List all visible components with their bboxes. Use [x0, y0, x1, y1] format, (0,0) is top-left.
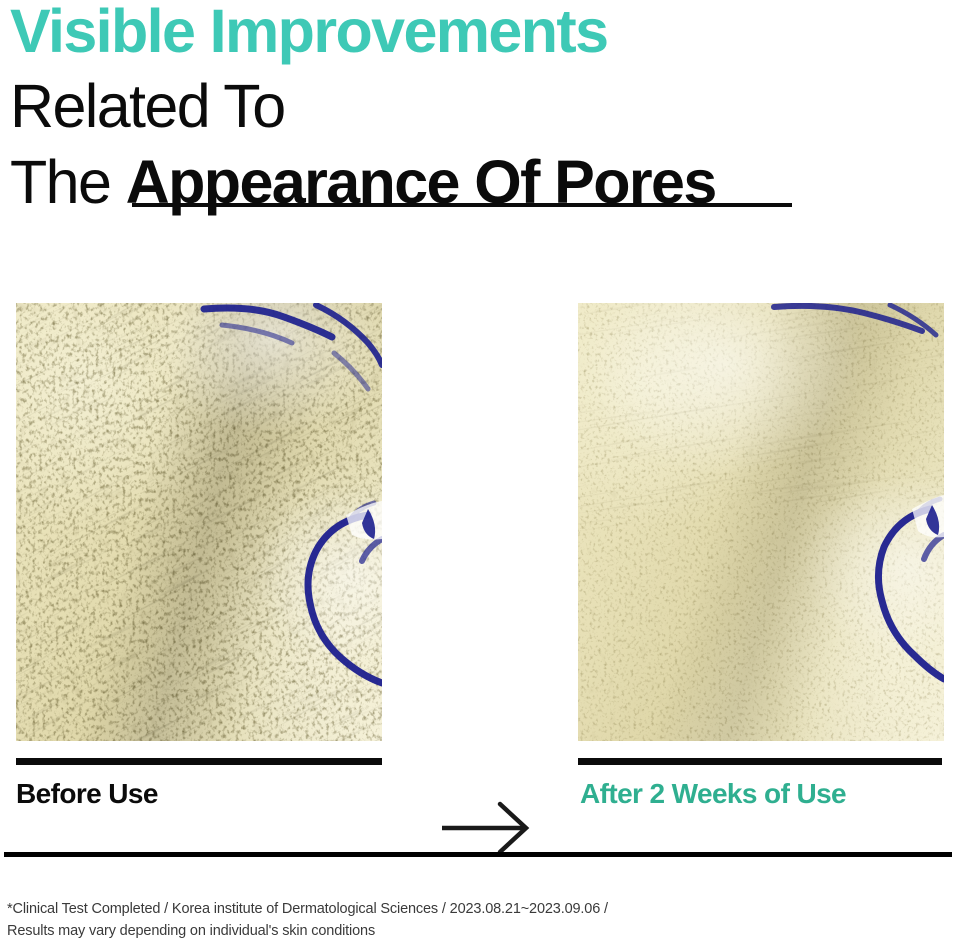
page-title: Visible Improvements Related To The Appe… — [10, 0, 940, 220]
right-arrow-icon — [440, 800, 532, 856]
footnote-line-2: Results may vary depending on individual… — [7, 920, 707, 942]
headline-line-3: The Appearance Of Pores — [10, 144, 940, 220]
headline-line-2: Related To — [10, 68, 940, 144]
headline-line-1: Visible Improvements — [10, 0, 940, 68]
footer-divider — [4, 852, 952, 857]
headline-underline — [132, 203, 792, 207]
headline-emphasis: Appearance Of Pores — [126, 144, 716, 220]
before-photo — [16, 303, 382, 741]
after-caption-bar — [578, 758, 942, 765]
before-caption-bar — [16, 758, 382, 765]
blue-ink-marking-before — [16, 303, 382, 741]
after-caption-label: After 2 Weeks of Use — [580, 778, 846, 810]
before-caption-label: Before Use — [16, 778, 158, 810]
after-photo — [578, 303, 944, 741]
footnote-line-1: *Clinical Test Completed / Korea institu… — [7, 898, 707, 920]
clinical-test-footnote: *Clinical Test Completed / Korea institu… — [7, 898, 707, 942]
blue-ink-marking-after — [578, 303, 944, 741]
before-after-comparison — [0, 303, 956, 741]
headline-line-3-prefix: The — [10, 148, 126, 216]
